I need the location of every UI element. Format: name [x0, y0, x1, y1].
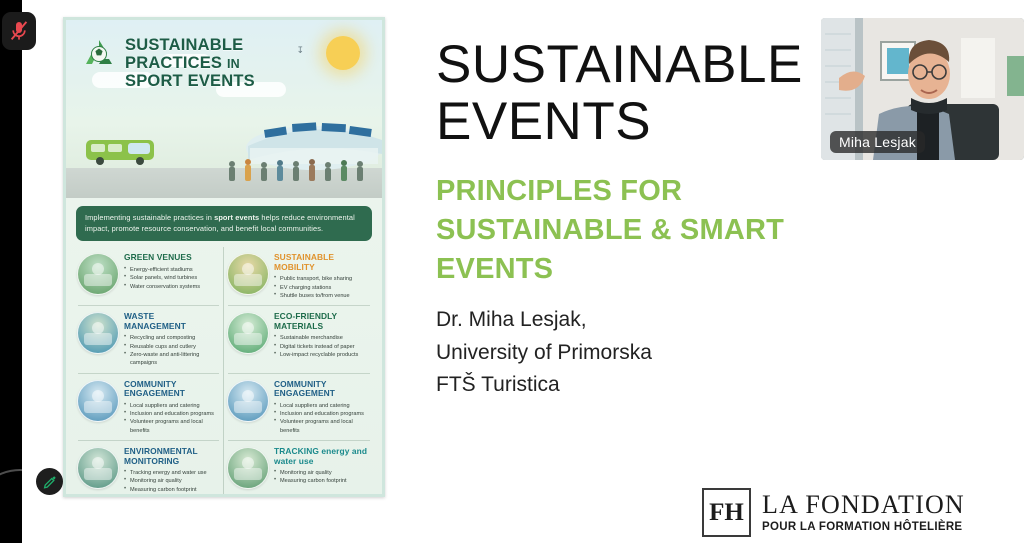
poster-title-line1: SUSTAINABLE: [125, 36, 243, 54]
avatar-placeholder-letter: k: [22, 520, 37, 543]
byline-author: Dr. Miha Lesjak,: [436, 308, 587, 331]
title-line-1: SUSTAINABLE: [436, 35, 803, 94]
poster-card-bullet: Local suppliers and catering: [124, 402, 218, 410]
poster-card-body: COMMUNITY ENGAGEMENTLocal suppliers and …: [124, 380, 218, 435]
poster-card-heading: TRACKING energy and water use: [274, 447, 369, 466]
title-line-2: EVENTS: [436, 92, 651, 151]
logo-line-2: POUR LA FORMATION HÔTELIÈRE: [762, 522, 965, 534]
poster-card-bullet: Measuring carbon footprint: [124, 486, 218, 494]
green-bus-illustration: [84, 134, 168, 168]
poster-card-body: GREEN VENUESEnergy-efficient stadiumsSol…: [124, 253, 218, 300]
poster-card-heading: ECO-FRIENDLY MATERIALS: [274, 312, 369, 331]
poster-card-body: WASTE MANAGEMENTRecycling and composting…: [124, 312, 218, 367]
logo-monogram: FH: [702, 488, 751, 537]
poster-card-heading: COMMUNITY ENGAGEMENT: [274, 380, 369, 399]
sun-icon: [326, 36, 360, 70]
poster-card-bullet: Low-impact recyclable products: [274, 351, 369, 359]
recycling-bins-icon: [77, 312, 119, 354]
reusable-bottle-bag-icon: [227, 312, 269, 354]
poster-card-bullet: Sustainable merchandise: [274, 334, 369, 342]
poster-card-bullet: Monitoring air quality: [274, 469, 369, 477]
poster-card-bullets: Public transport, bike sharingEV chargin…: [274, 275, 369, 300]
banner-text-pre: Implementing sustainable practices in: [85, 213, 214, 222]
bird-icon: ↧: [296, 45, 304, 56]
byline-faculty: FTŠ Turistica: [436, 373, 560, 396]
poster-card-body: ECO-FRIENDLY MATERIALSSustainable mercha…: [274, 312, 369, 367]
poster-title-line3: SPORT EVENTS: [125, 72, 255, 90]
recycling-soccer-ball-icon: [80, 36, 118, 74]
poster-card-bullet: Zero-waste and anti-littering campaigns: [124, 351, 218, 368]
poster-card: GREEN VENUESEnergy-efficient stadiumsSol…: [74, 247, 224, 306]
poster-card-bullet: Water conservation systems: [124, 283, 218, 291]
poster-title-line2: PRACTICES: [125, 54, 222, 72]
poster-title-in: IN: [227, 57, 240, 71]
poster-card: WASTE MANAGEMENTRecycling and composting…: [74, 306, 224, 373]
poster-card-bullet: Solar panels, wind turbines: [124, 274, 218, 282]
poster-card: TRACKING energy and water useMonitoring …: [224, 441, 374, 497]
participant-name-label: Miha Lesjak: [830, 131, 925, 153]
crowd-illustration: [224, 154, 374, 184]
poster-card: ECO-FRIENDLY MATERIALSSustainable mercha…: [224, 306, 374, 373]
poster-card-bullets: Tracking energy and water useMonitoring …: [124, 469, 218, 494]
tablet-analytics-icon: [227, 447, 269, 489]
poster-card-bullets: Monitoring air qualityMeasuring carbon f…: [274, 469, 369, 486]
poster-card-bullet: Tracking energy and water use: [124, 469, 218, 477]
monitoring-dashboard-icon: [77, 447, 119, 489]
poster-card-heading: WASTE MANAGEMENT: [124, 312, 218, 331]
poster-card-body: SUSTAINABLE MOBILITYPublic transport, bi…: [274, 253, 369, 300]
poster-card-bullet: Measuring carbon footprint: [274, 477, 369, 485]
poster-card: SUSTAINABLE MOBILITYPublic transport, bi…: [224, 247, 374, 306]
poster-card-bullet: Volunteer programs and local benefits: [124, 418, 218, 435]
poster-card: COMMUNITY ENGAGEMENTLocal suppliers and …: [74, 374, 224, 441]
poster-card-bullets: Sustainable merchandiseDigital tickets i…: [274, 334, 369, 359]
poster-card-bullet: Digital tickets instead of paper: [274, 343, 369, 351]
page-title: SUSTAINABLE EVENTS: [436, 36, 816, 150]
participant-video-tile[interactable]: Miha Lesjak: [821, 18, 1024, 160]
poster-card-body: COMMUNITY ENGAGEMENTLocal suppliers and …: [274, 380, 369, 435]
poster-card-grid: GREEN VENUESEnergy-efficient stadiumsSol…: [66, 247, 382, 497]
poster-card-bullet: Recycling and composting: [124, 334, 218, 342]
poster-card-bullet: Volunteer programs and local benefits: [274, 418, 369, 435]
poster-card-bullet: Inclusion and education programs: [274, 410, 369, 418]
volunteers-group-icon: [227, 380, 269, 422]
poster-card-bullet: Shuttle buses to/from venue: [274, 292, 369, 300]
poster-card-bullets: Recycling and compostingReusable cups an…: [124, 334, 218, 368]
poster-infographic: ↧ SUSTAINABLE PRACTICES IN SPORT EVENT: [63, 17, 385, 497]
poster-card-bullet: Reusable cups and cutlery: [124, 343, 218, 351]
poster-title-block: SUSTAINABLE PRACTICES IN SPORT EVENTS: [80, 36, 255, 90]
poster-card: COMMUNITY ENGAGEMENTLocal suppliers and …: [224, 374, 374, 441]
poster-card-bullet: Inclusion and education programs: [124, 410, 218, 418]
microphone-muted-icon[interactable]: [2, 12, 36, 50]
volunteers-group-icon: [77, 380, 119, 422]
electric-bus-bicycle-icon: [227, 253, 269, 295]
subtitle-line-1: PRINCIPLES FOR: [436, 175, 682, 207]
slide-byline: Dr. Miha Lesjak, University of Primorska…: [436, 304, 816, 402]
banner-text-bold: sport events: [214, 213, 259, 222]
poster-card-bullet: Monitoring air quality: [124, 477, 218, 485]
poster-card-heading: ENVIRONMENTAL MONITORING: [124, 447, 218, 466]
poster-card-heading: GREEN VENUES: [124, 253, 218, 262]
poster-card-bullet: Public transport, bike sharing: [274, 275, 369, 283]
poster-card-bullet: Energy-efficient stadiums: [124, 266, 218, 274]
poster-card-heading: COMMUNITY ENGAGEMENT: [124, 380, 218, 399]
byline-affiliation: University of Primorska: [436, 341, 652, 364]
poster-card-heading: SUSTAINABLE MOBILITY: [274, 253, 369, 272]
poster-card: ENVIRONMENTAL MONITORINGTracking energy …: [74, 441, 224, 497]
left-black-strip: [0, 0, 22, 543]
pencil-annotate-icon[interactable]: [36, 468, 63, 495]
poster-card-bullet: Local suppliers and catering: [274, 402, 369, 410]
logo-line-1: LA FONDATION: [762, 492, 965, 518]
slide-subtitle: PRINCIPLES FOR SUSTAINABLE & SMART EVENT…: [436, 172, 816, 288]
poster-card-bullet: EV charging stations: [274, 284, 369, 292]
subtitle-line-3: EVENTS: [436, 253, 553, 285]
foundation-logo: FH LA FONDATION POUR LA FORMATION HÔTELI…: [702, 488, 965, 537]
poster-hero-illustration: ↧ SUSTAINABLE PRACTICES IN SPORT EVENT: [66, 20, 382, 198]
poster-intro-banner: Implementing sustainable practices in sp…: [76, 206, 372, 241]
poster-card-bullets: Local suppliers and cateringInclusion an…: [274, 402, 369, 436]
poster-card-bullets: Energy-efficient stadiumsSolar panels, w…: [124, 266, 218, 291]
poster-card-body: TRACKING energy and water useMonitoring …: [274, 447, 369, 494]
slide-text-column: SUSTAINABLE EVENTS PRINCIPLES FOR SUSTAI…: [436, 36, 816, 402]
subtitle-line-2: SUSTAINABLE & SMART: [436, 214, 784, 246]
poster-card-body: ENVIRONMENTAL MONITORINGTracking energy …: [124, 447, 218, 494]
meeting-screen-share-view: k ↧ SUSTAINABLE: [0, 0, 1024, 543]
poster-card-bullets: Local suppliers and cateringInclusion an…: [124, 402, 218, 436]
solar-stadium-icon: [77, 253, 119, 295]
